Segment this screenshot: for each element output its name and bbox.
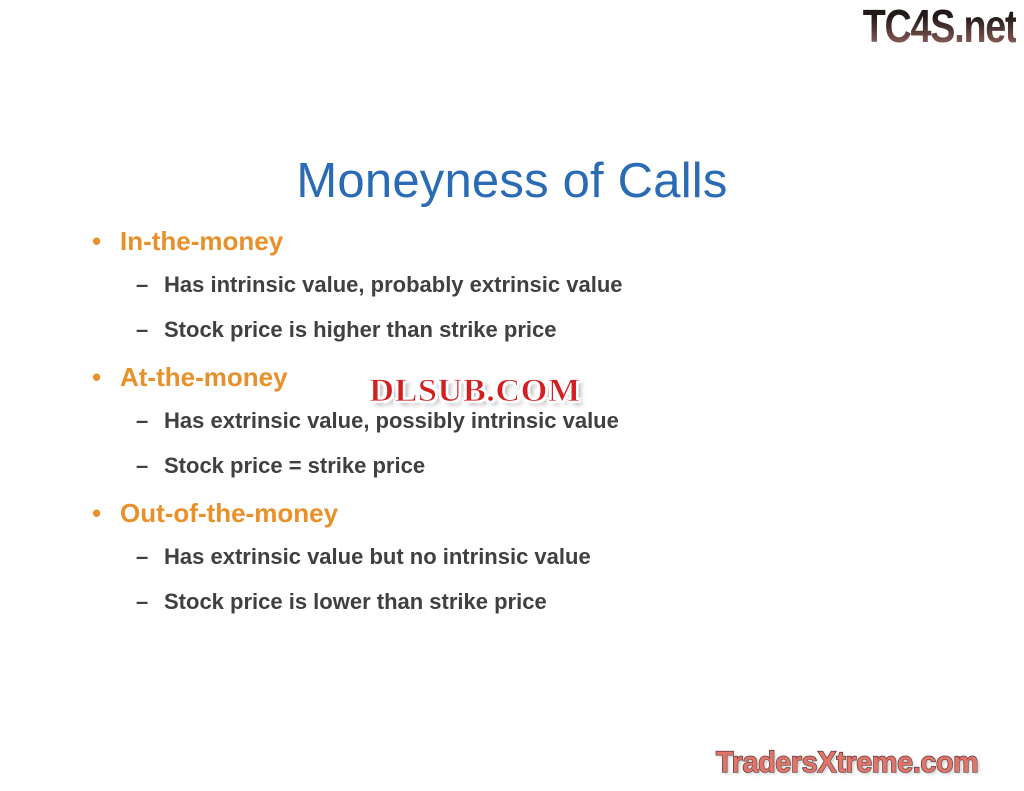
sub-bullet-item: – Has intrinsic value, probably extrinsi… bbox=[86, 274, 946, 302]
tc4s-brand-logo: TC4S.net bbox=[862, 2, 1016, 50]
sub-bullet-label: Stock price is higher than strike price bbox=[164, 317, 556, 342]
tradersxtreme-watermark: TradersXtreme.com bbox=[716, 746, 978, 779]
sub-bullet-item: – Stock price is lower than strike price bbox=[86, 591, 946, 619]
sub-bullet-label: Stock price is lower than strike price bbox=[164, 589, 547, 614]
sub-bullet-label: Has extrinsic value, possibly intrinsic … bbox=[164, 408, 619, 433]
dlsub-watermark: DLSUB.COM bbox=[364, 372, 586, 412]
sub-bullet-label: Stock price = strike price bbox=[164, 453, 425, 478]
dash-icon: – bbox=[136, 591, 148, 613]
bullet-list: • In-the-money – Has intrinsic value, pr… bbox=[86, 228, 946, 636]
sub-bullet-label: Has extrinsic value but no intrinsic val… bbox=[164, 544, 591, 569]
dash-icon: – bbox=[136, 546, 148, 568]
sub-bullet-item: – Has extrinsic value but no intrinsic v… bbox=[86, 546, 946, 574]
bullet-dot-icon: • bbox=[92, 364, 101, 390]
sub-bullet-item: – Stock price = strike price bbox=[86, 455, 946, 483]
page-title: Moneyness of Calls bbox=[0, 155, 1024, 209]
bullet-group-in-the-money: • In-the-money – Has intrinsic value, pr… bbox=[86, 228, 946, 347]
dash-icon: – bbox=[136, 274, 148, 296]
bullet-heading-label: In-the-money bbox=[120, 228, 283, 254]
sub-bullet-label: Has intrinsic value, probably extrinsic … bbox=[164, 272, 623, 297]
presentation-slide: TC4S.net Moneyness of Calls • In-the-mon… bbox=[0, 0, 1024, 791]
bullet-heading-label: Out-of-the-money bbox=[120, 500, 338, 526]
bullet-group-out-of-the-money: • Out-of-the-money – Has extrinsic value… bbox=[86, 500, 946, 619]
bullet-heading-in-the-money: • In-the-money bbox=[86, 228, 946, 260]
bullet-heading-out-of-the-money: • Out-of-the-money bbox=[86, 500, 946, 532]
bullet-heading-label: At-the-money bbox=[120, 364, 288, 390]
sub-bullet-item: – Stock price is higher than strike pric… bbox=[86, 319, 946, 347]
sub-bullet-item: – Has extrinsic value, possibly intrinsi… bbox=[86, 410, 946, 438]
dash-icon: – bbox=[136, 410, 148, 432]
dash-icon: – bbox=[136, 455, 148, 477]
dash-icon: – bbox=[136, 319, 148, 341]
bullet-dot-icon: • bbox=[92, 228, 101, 254]
bullet-dot-icon: • bbox=[92, 500, 101, 526]
